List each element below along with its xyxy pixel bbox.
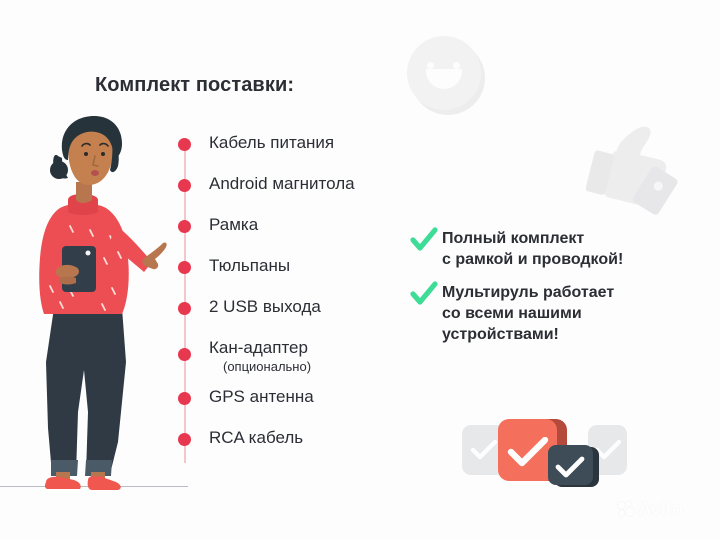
benefit-text: Полный комплект с рамкой и проводкой! — [442, 228, 623, 270]
list-item-label: Тюльпаны — [209, 256, 290, 276]
bullet-dot — [178, 138, 191, 151]
list-item-label: GPS антенна — [209, 387, 314, 407]
benefit-line-1: Мультируль работает — [442, 284, 614, 301]
bullet-dot — [178, 261, 191, 274]
list-item: GPS антенна — [178, 387, 408, 428]
bullet-dot — [178, 433, 191, 446]
benefit-text: Мультируль работает со всеми нашими устр… — [442, 282, 614, 345]
benefit-item: Мультируль работает со всеми нашими устр… — [410, 282, 690, 345]
list-item: Рамка — [178, 215, 408, 256]
smiley-face-icon — [407, 36, 485, 114]
bullet-dot — [178, 392, 191, 405]
list-item: Android магнитола — [178, 174, 408, 215]
benefit-line-2: со всеми нашими — [442, 305, 582, 322]
list-item: Тюльпаны — [178, 256, 408, 297]
check-icon — [410, 226, 438, 254]
list-item: 2 USB выхода — [178, 297, 408, 338]
list-item: RCA кабель — [178, 428, 408, 469]
list-item-label: 2 USB выхода — [209, 297, 321, 317]
list-item: Кан-адаптер (опционально) — [178, 338, 408, 387]
bullet-dot — [178, 302, 191, 315]
thumbs-up-icon — [583, 118, 688, 218]
checkbox-card-navy — [548, 445, 593, 485]
benefit-item: Полный комплект с рамкой и проводкой! — [410, 228, 690, 270]
list-item-label: Кан-адаптер (опционально) — [209, 338, 311, 374]
list-item-label: Кабель питания — [209, 133, 334, 153]
avito-watermark: Avito — [618, 500, 683, 519]
list-item-main-text: Кан-адаптер — [209, 338, 308, 357]
bullet-dot — [178, 179, 191, 192]
bullet-dot — [178, 220, 191, 233]
avito-watermark-text: Avito — [638, 500, 683, 519]
list-item-label: RCA кабель — [209, 428, 303, 448]
benefits-list: Полный комплект с рамкой и проводкой! Му… — [410, 228, 690, 357]
benefit-line-1: Полный комплект — [442, 230, 584, 247]
avito-logo-icon — [618, 501, 635, 518]
check-icon — [410, 280, 438, 308]
list-item-label: Android магнитола — [209, 174, 355, 194]
package-contents-list: Кабель питания Android магнитола Рамка Т… — [178, 133, 408, 469]
list-item: Кабель питания — [178, 133, 408, 174]
benefit-line-2: с рамкой и проводкой! — [442, 251, 623, 268]
checkbox-cards-icon — [462, 414, 627, 490]
page-title: Комплект поставки: — [95, 74, 294, 97]
list-item-label: Рамка — [209, 215, 258, 235]
promo-canvas: Комплект поставки: Кабель питания Androi… — [0, 0, 720, 540]
bullet-dot — [178, 348, 191, 361]
woman-illustration — [18, 112, 178, 492]
list-item-subtext: (опционально) — [223, 359, 311, 374]
benefit-line-3: устройствами! — [442, 326, 559, 343]
